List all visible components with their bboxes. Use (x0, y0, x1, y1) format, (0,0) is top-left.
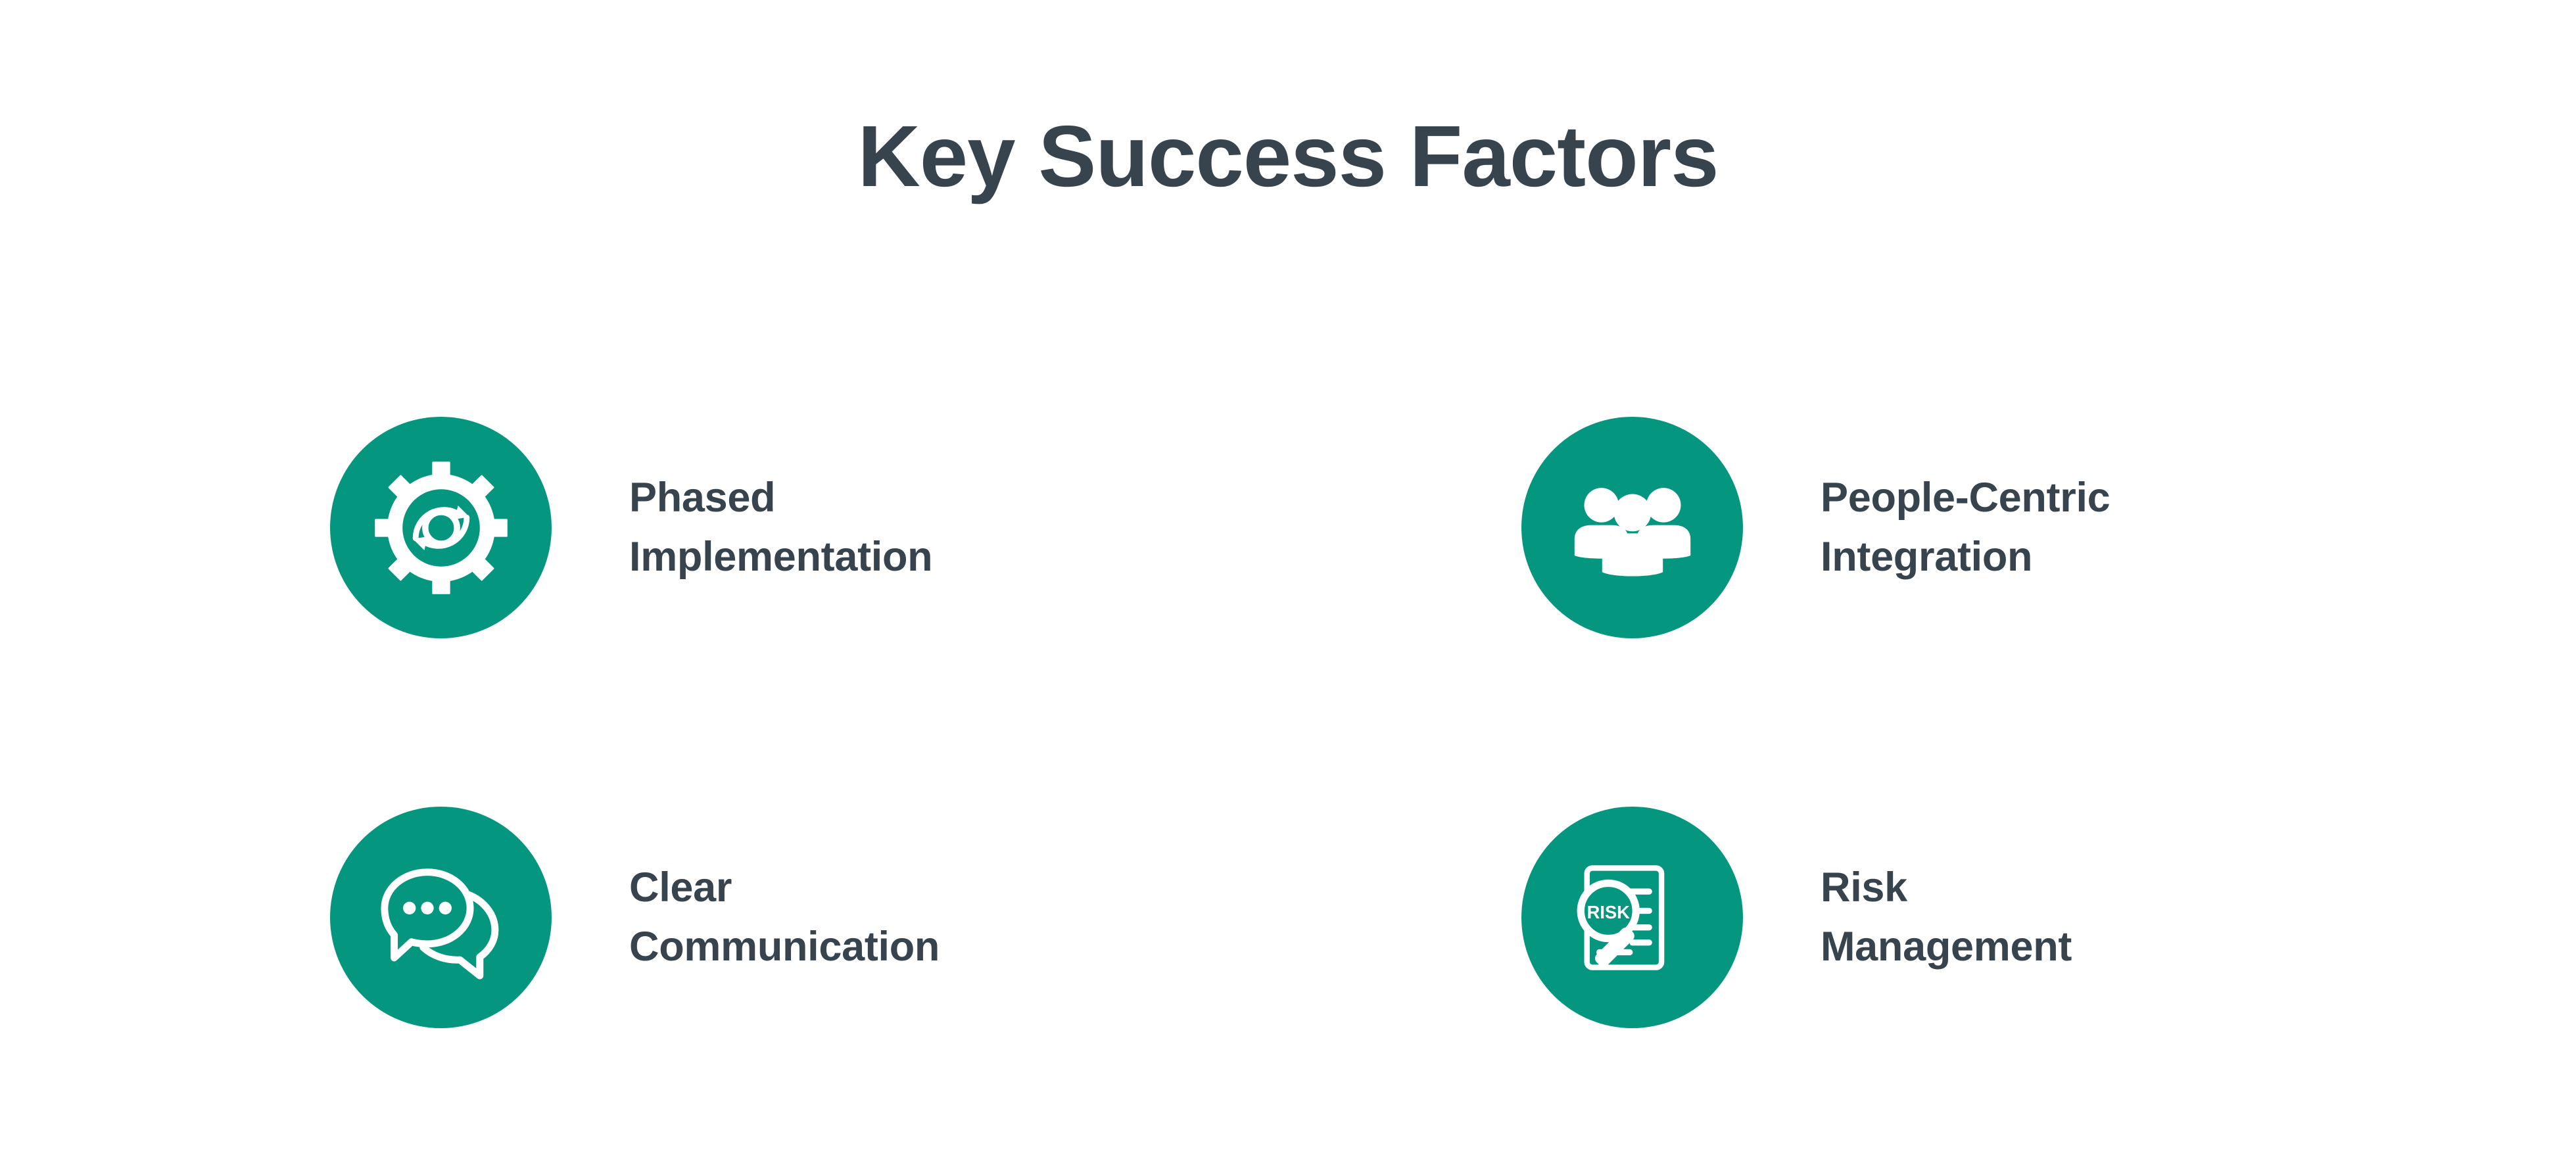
risk-document-magnifier-icon-badge: RISK (1521, 807, 1743, 1028)
gear-cycle-icon (372, 459, 510, 597)
chat-bubbles-icon (372, 849, 510, 987)
factor-label-line-2: Implementation (629, 528, 932, 586)
factor-grid: Phased Implementation (330, 417, 2250, 1028)
risk-document-magnifier-icon: RISK (1563, 849, 1702, 987)
factor-item-people-centric-integration[interactable]: People-Centric Integration (1521, 417, 2442, 638)
factor-label-line-1: People-Centric (1821, 469, 2110, 527)
factor-label: Clear Communication (629, 859, 940, 976)
risk-icon-text: RISK (1586, 901, 1630, 922)
factor-label-line-2: Management (1821, 918, 2072, 976)
factor-label: People-Centric Integration (1821, 469, 2110, 586)
factor-label-line-1: Phased (629, 469, 932, 527)
chat-bubbles-icon-badge (330, 807, 552, 1028)
factor-label: Phased Implementation (629, 469, 932, 586)
factor-item-phased-implementation[interactable]: Phased Implementation (330, 417, 1251, 638)
factor-item-clear-communication[interactable]: Clear Communication (330, 807, 1251, 1028)
page-title: Key Success Factors (0, 113, 2576, 200)
slide-canvas: Key Success Factors (0, 0, 2576, 1159)
gear-cycle-icon-badge (330, 417, 552, 638)
factor-label-line-2: Communication (629, 918, 940, 976)
factor-label: Risk Management (1821, 859, 2072, 976)
people-group-icon-badge (1521, 417, 1743, 638)
people-group-icon (1563, 459, 1702, 597)
factor-label-line-1: Clear (629, 859, 940, 917)
factor-label-line-2: Integration (1821, 528, 2110, 586)
factor-label-line-1: Risk (1821, 859, 2072, 917)
factor-item-risk-management[interactable]: RISK Risk Management (1521, 807, 2442, 1028)
